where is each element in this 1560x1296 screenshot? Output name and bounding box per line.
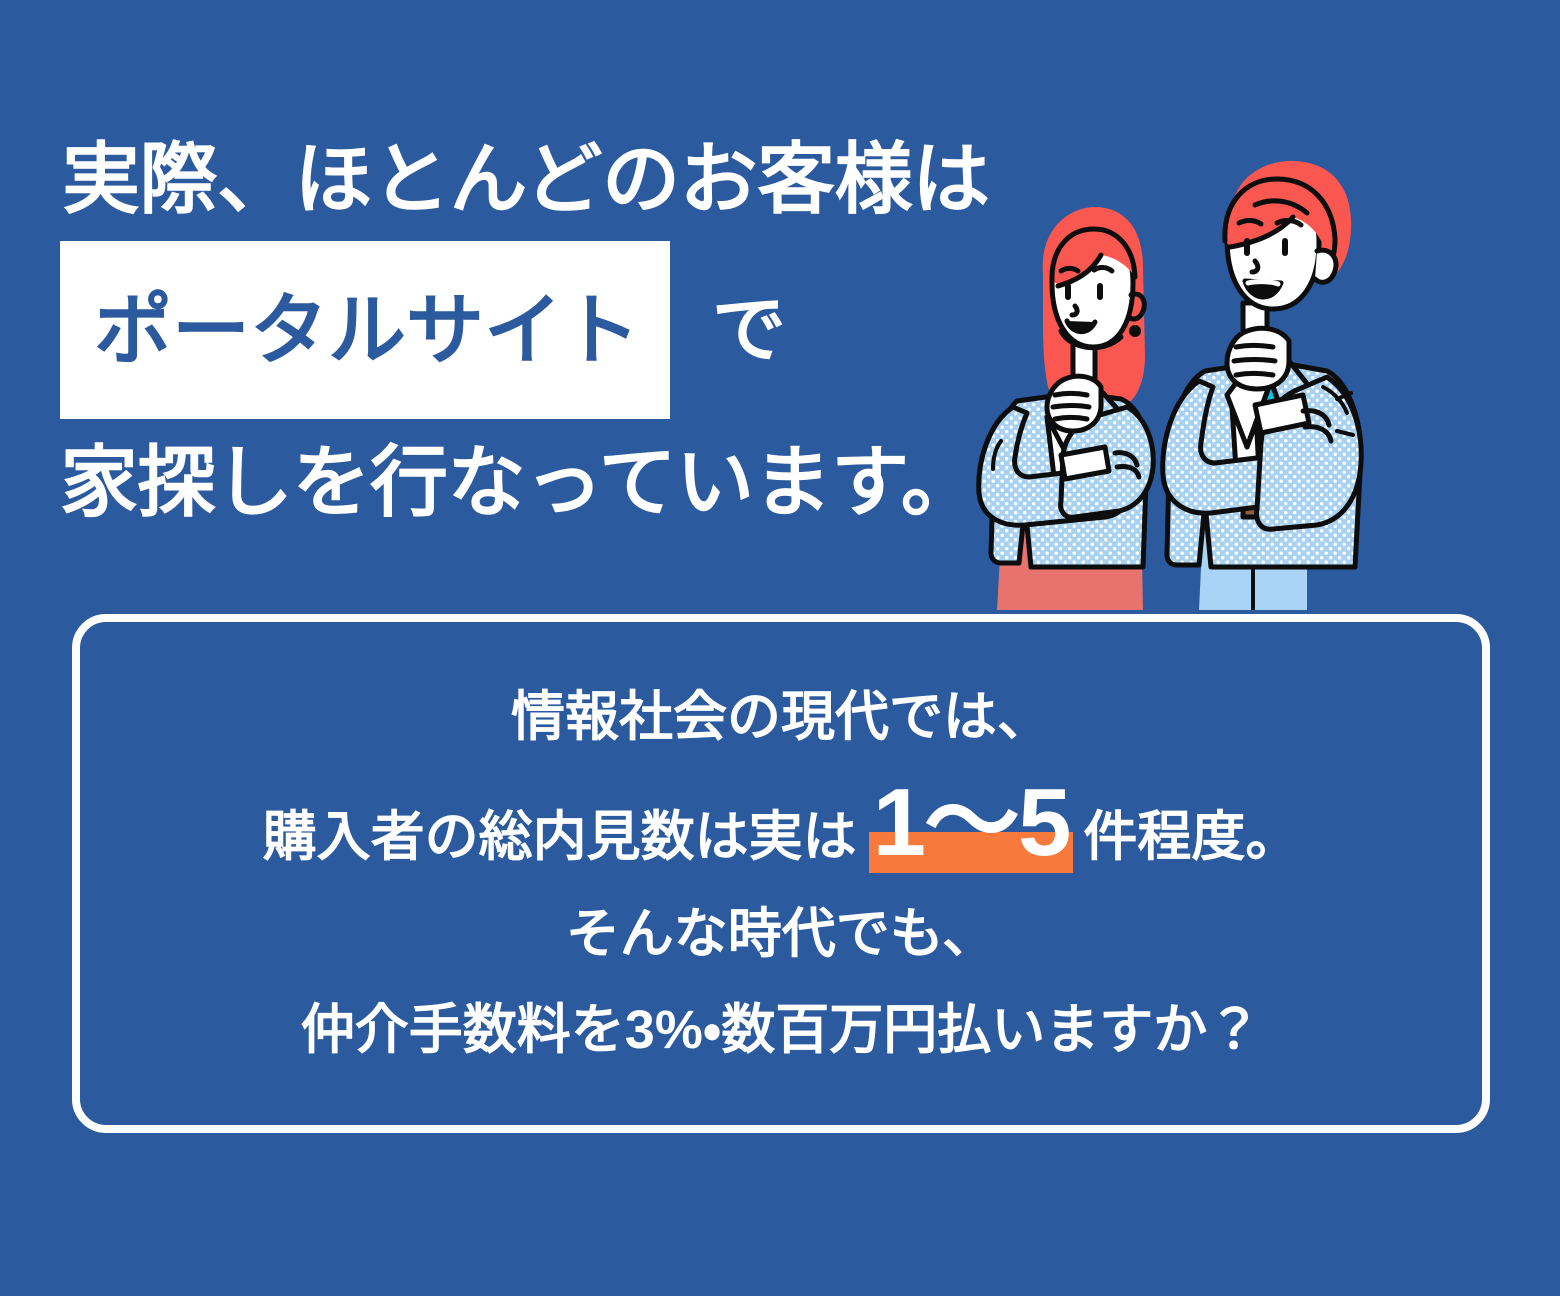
headline-line-3: 家探しを行なっています。 <box>60 441 960 524</box>
two-people-thinking-illustration <box>955 155 1455 610</box>
panel-line-2-suffix: 件程度。 <box>1083 806 1299 868</box>
portal-site-plaque: ポータルサイト <box>60 241 670 419</box>
viewing-count-number: 1〜5 <box>873 782 1070 865</box>
panel-line-3: そんな時代でも、 <box>566 903 996 965</box>
man-figure <box>1163 161 1361 610</box>
panel-line-1: 情報社会の現代では、 <box>511 686 1051 748</box>
woman-figure <box>979 207 1153 610</box>
highlight-number-group: 1〜5 <box>869 782 1074 868</box>
headline-particle-de: で <box>712 293 786 367</box>
headline-block: 実際、ほとんどのお客様は ポータルサイト で 家探しを行なっています。 <box>60 138 960 523</box>
panel-line-2-prefix: 購入者の総内見数は実は <box>263 806 857 868</box>
panel-line-2: 購入者の総内見数は実は 1〜5 件程度。 <box>263 782 1300 868</box>
panel-line-4: 仲介手数料を3%・数百万円払いますか？ <box>301 999 1261 1061</box>
promo-banner: 実際、ほとんどのお客様は ポータルサイト で 家探しを行なっています。 <box>0 0 1560 1296</box>
headline-line-1: 実際、ほとんどのお客様は <box>62 138 960 221</box>
headline-line-2: ポータルサイト で <box>60 241 960 419</box>
message-panel: 情報社会の現代では、 購入者の総内見数は実は 1〜5 件程度。 そんな時代でも、… <box>72 614 1490 1133</box>
